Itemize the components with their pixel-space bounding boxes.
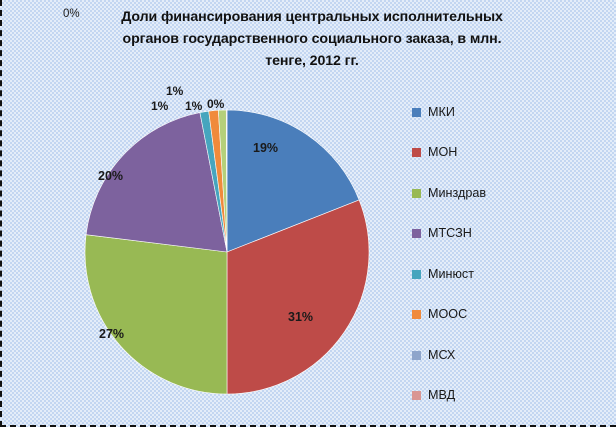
legend-item-мки[interactable]: МКИ <box>412 92 572 133</box>
pie-label-mon: 31% <box>288 310 313 324</box>
pie-label-minzdrav: 27% <box>99 327 124 341</box>
legend-swatch-icon <box>412 108 421 117</box>
legend-item-label: МСХ <box>428 349 455 362</box>
legend-swatch-icon <box>412 229 421 238</box>
chart-title-line-3: тенге, 2012 гг. <box>86 50 538 72</box>
pie-label-mvd: 0% <box>207 97 224 111</box>
chart-title: Доли финансирования центральных исполнит… <box>86 6 538 72</box>
legend-swatch-icon <box>412 391 421 400</box>
pie-label-minyust: 1% <box>151 99 168 113</box>
legend-item-мтсзн[interactable]: МТСЗН <box>412 214 572 255</box>
legend-item-минюст[interactable]: Минюст <box>412 254 572 295</box>
legend-item-мсх[interactable]: МСХ <box>412 335 572 376</box>
chart-canvas: Доли финансирования центральных исполнит… <box>0 0 616 427</box>
pie-slice-минздрав[interactable] <box>85 235 227 394</box>
chart-legend: МКИМОНМинздравМТСЗНМинюстМООСМСХМВД <box>412 92 572 416</box>
legend-item-мон[interactable]: МОН <box>412 133 572 174</box>
chart-title-line-1: Доли финансирования центральных исполнит… <box>86 6 538 28</box>
legend-swatch-icon <box>412 351 421 360</box>
legend-item-label: МТСЗН <box>428 227 472 240</box>
legend-item-label: Минюст <box>428 268 474 281</box>
pie-label-moos: 1% <box>166 84 183 98</box>
legend-item-label: МООС <box>428 308 467 321</box>
chart-title-line-2: органов государственного социального зак… <box>86 28 538 50</box>
pie-label-extra: 0% <box>63 8 80 20</box>
legend-item-label: МВД <box>428 389 455 402</box>
pie-chart <box>84 109 370 395</box>
legend-item-label: Минздрав <box>428 187 486 200</box>
legend-swatch-icon <box>412 270 421 279</box>
legend-item-моос[interactable]: МООС <box>412 295 572 336</box>
legend-swatch-icon <box>412 310 421 319</box>
legend-item-label: МОН <box>428 146 457 159</box>
legend-swatch-icon <box>412 148 421 157</box>
legend-item-минздрав[interactable]: Минздрав <box>412 173 572 214</box>
pie-label-mki: 19% <box>253 141 278 155</box>
pie-label-msh: 1% <box>185 99 202 113</box>
pie-slice-group <box>85 110 369 394</box>
pie-label-mtszn: 20% <box>98 169 123 183</box>
legend-item-label: МКИ <box>428 106 455 119</box>
legend-item-мвд[interactable]: МВД <box>412 376 572 417</box>
pie-chart-svg <box>84 109 370 395</box>
legend-swatch-icon <box>412 189 421 198</box>
